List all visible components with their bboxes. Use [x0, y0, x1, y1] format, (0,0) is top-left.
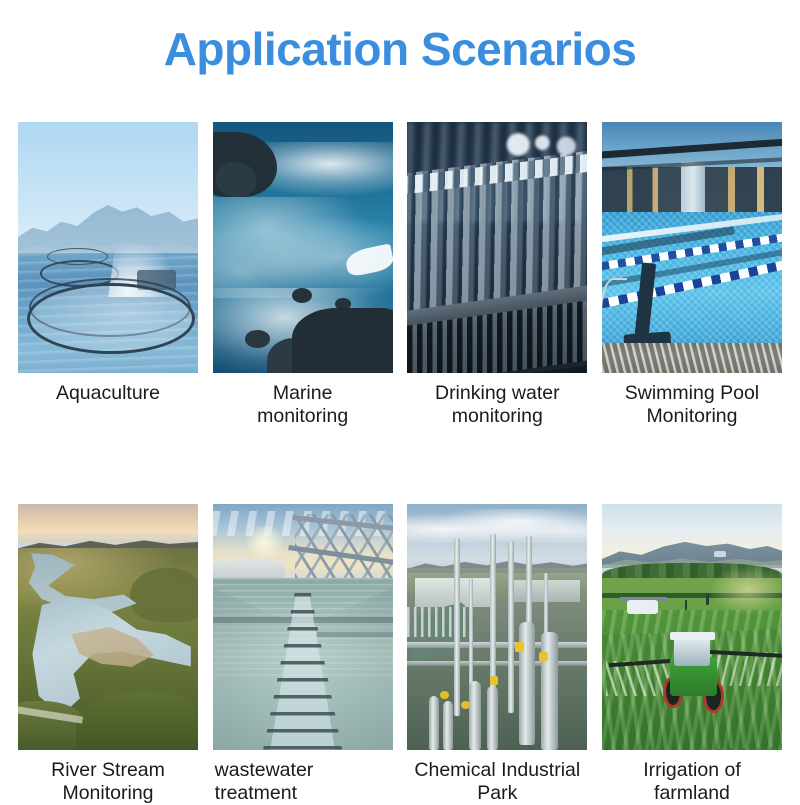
tractor-cab-icon	[674, 637, 710, 667]
pool-ladder-rail-icon	[602, 278, 627, 350]
sunset-sky-layer	[18, 504, 198, 543]
scenario-card-marine-monitoring[interactable]: Marinemonitoring	[213, 122, 393, 428]
scenario-card-chemical-park[interactable]: Chemical IndustrialPark	[407, 504, 587, 805]
deck-grate-layer	[602, 343, 782, 373]
rock-small-3-icon	[245, 330, 270, 348]
rock-bottom-right-icon	[292, 308, 393, 373]
scenario-caption-aquaculture: Aquaculture	[18, 382, 198, 405]
scenario-card-drinking-water[interactable]: Drinking watermonitoring	[407, 122, 587, 428]
drone-icon	[627, 600, 658, 614]
drinking-water-image	[407, 122, 587, 373]
scenario-caption-chemical-park: Chemical IndustrialPark	[407, 759, 587, 805]
marine-image	[213, 122, 393, 373]
pipe-rack-1-icon	[407, 642, 587, 648]
cloud-layer	[407, 509, 587, 543]
column-1-icon	[454, 538, 460, 715]
valve-3-icon	[440, 691, 449, 699]
aquaculture-image	[18, 122, 198, 373]
valve-2-icon	[539, 652, 548, 662]
column-3-icon	[508, 541, 514, 713]
farm-worker-1-icon	[706, 593, 709, 605]
farm-worker-2-icon	[685, 600, 688, 610]
scenario-row-2: River StreamMonitoring wastewatert	[0, 504, 800, 805]
scenario-caption-swimming-pool: Swimming PoolMonitoring	[602, 382, 782, 428]
tower-tank-1-icon	[519, 622, 535, 745]
walkway-2-icon	[317, 632, 393, 637]
chemical-park-image	[407, 504, 587, 750]
valve-5-icon	[490, 676, 498, 684]
scenario-card-irrigation-farmland[interactable]: Irrigation offarmland	[602, 504, 782, 805]
irrigation-image	[602, 504, 782, 750]
tower-tank-4-icon	[487, 686, 499, 750]
sun-glow-layer	[706, 563, 782, 617]
tower-tank-2-icon	[541, 632, 558, 750]
hill-right-icon	[130, 568, 198, 622]
rock-small-1-icon	[292, 288, 312, 303]
rock-top-left-small-icon	[216, 162, 256, 197]
scenario-caption-marine-monitoring: Marinemonitoring	[213, 382, 393, 428]
scenario-caption-irrigation-farmland: Irrigation offarmland	[602, 759, 782, 805]
pipe-rack-2-icon	[407, 661, 587, 666]
scenario-card-aquaculture[interactable]: Aquaculture	[18, 122, 198, 428]
scenario-card-swimming-pool[interactable]: Swimming PoolMonitoring	[602, 122, 782, 428]
scenario-grid: Aquaculture Marinemonitoring	[0, 122, 800, 805]
fish-pen-icon	[27, 283, 195, 354]
tower-tank-5-icon	[429, 696, 439, 750]
scenario-caption-wastewater-treatment: wastewatertreatment	[213, 759, 393, 805]
scenario-caption-river-stream: River StreamMonitoring	[18, 759, 198, 805]
plant-building-left-icon	[415, 578, 491, 608]
drone-far-icon	[714, 551, 727, 557]
scenario-caption-drinking-water: Drinking watermonitoring	[407, 382, 587, 428]
river-image	[18, 504, 198, 750]
tractor-roof-icon	[670, 632, 715, 640]
scenario-row-1: Aquaculture Marinemonitoring	[0, 122, 800, 428]
valve-1-icon	[515, 642, 524, 652]
page-title: Application Scenarios	[0, 24, 800, 75]
tower-tank-3-icon	[469, 681, 482, 750]
scenario-card-river-stream[interactable]: River StreamMonitoring	[18, 504, 198, 805]
tower-tank-6-icon	[443, 701, 453, 750]
pillar-icon	[681, 162, 704, 217]
swimming-pool-image	[602, 122, 782, 373]
wastewater-image	[213, 504, 393, 750]
sun-glow-icon	[241, 526, 288, 558]
scenario-card-wastewater-treatment[interactable]: wastewatertreatment	[213, 504, 393, 805]
